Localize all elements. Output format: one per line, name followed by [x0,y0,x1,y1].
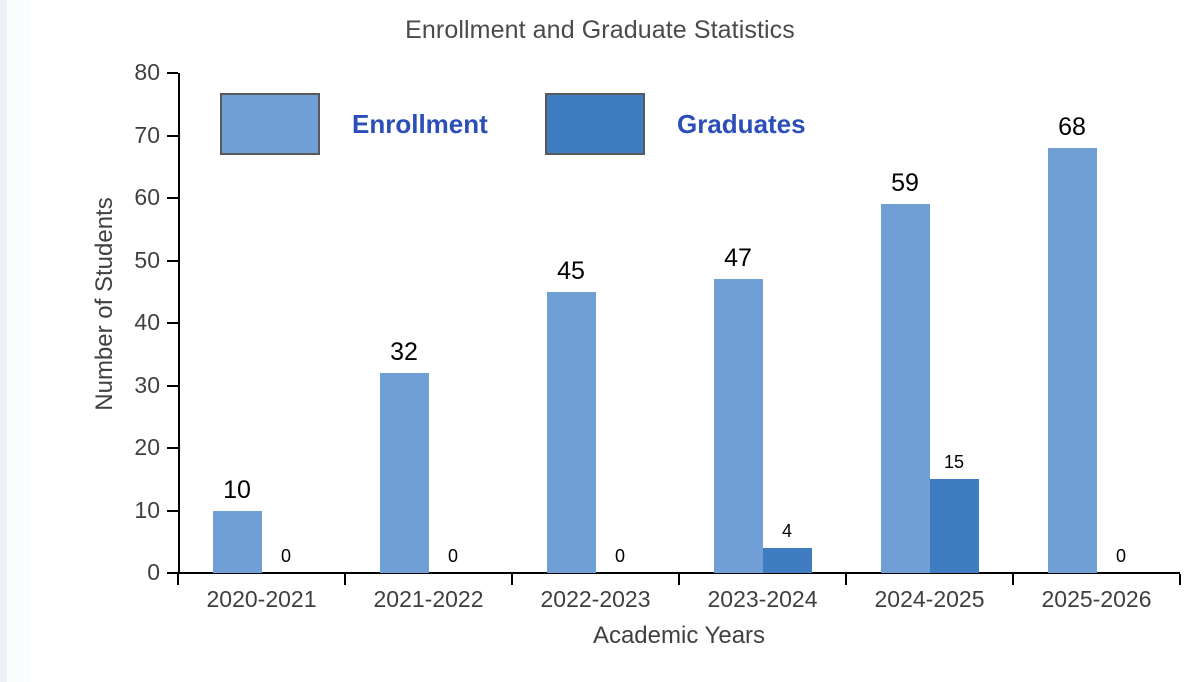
bar-value-label-enrollment-2020-2021: 10 [202,478,272,503]
y-axis-tick-label: 60 [100,186,160,209]
x-axis-tick [1012,574,1014,585]
y-axis-tick-label: 0 [100,561,160,584]
x-axis-tick-label: 2021-2022 [339,586,519,613]
bar-value-label-graduates-2021-2022: 0 [418,547,488,565]
legend-item-enrollment[interactable]: Enrollment [220,92,488,156]
chart-title: Enrollment and Graduate Statistics [0,16,1200,45]
bar-enrollment-2022-2023[interactable] [547,292,596,573]
bar-value-label-enrollment-2023-2024: 47 [703,246,773,271]
bar-enrollment-2021-2022[interactable] [380,373,429,573]
bar-enrollment-2024-2025[interactable] [881,204,930,573]
bar-value-label-graduates-2024-2025: 15 [919,453,989,471]
bar-value-label-enrollment-2021-2022: 32 [369,340,439,365]
legend-item-graduates[interactable]: Graduates [545,92,806,156]
y-axis-tick-label: 80 [100,61,160,84]
y-axis-tick-label: 70 [100,124,160,147]
x-axis-tick [1179,574,1181,585]
x-axis-tick [344,574,346,585]
legend-label-graduates: Graduates [677,109,806,140]
legend-swatch-graduates [545,93,645,155]
x-axis-title: Academic Years [178,622,1180,650]
y-axis-tick-label: 40 [100,311,160,334]
bar-enrollment-2025-2026[interactable] [1048,148,1097,573]
bar-value-label-enrollment-2024-2025: 59 [870,171,940,196]
y-axis-tick [167,135,178,137]
legend-label-enrollment: Enrollment [352,109,488,140]
bar-graduates-2024-2025[interactable] [930,479,979,573]
legend-swatch-enrollment [220,93,320,155]
x-axis-tick [678,574,680,585]
y-axis-tick [167,260,178,262]
y-axis-tick [167,385,178,387]
x-axis-tick-label: 2020-2021 [172,586,352,613]
bar-value-label-graduates-2020-2021: 0 [251,547,321,565]
x-axis-tick-label: 2024-2025 [840,586,1020,613]
bar-value-label-graduates-2025-2026: 0 [1086,547,1156,565]
y-axis-tick-label: 20 [100,436,160,459]
y-axis-tick [167,510,178,512]
bar-value-label-enrollment-2022-2023: 45 [536,259,606,284]
bar-graduates-2023-2024[interactable] [763,548,812,573]
y-axis-tick [167,322,178,324]
bar-chart: Enrollment and Graduate Statistics Numbe… [0,0,1200,682]
y-axis-tick [167,197,178,199]
bar-value-label-enrollment-2025-2026: 68 [1037,115,1107,140]
y-axis-tick-label: 30 [100,374,160,397]
x-axis-tick [177,574,179,585]
x-axis-tick-label: 2025-2026 [1007,586,1187,613]
y-axis-tick-label: 50 [100,249,160,272]
y-axis-tick [167,72,178,74]
bar-value-label-graduates-2023-2024: 4 [752,522,822,540]
x-axis-tick-label: 2023-2024 [673,586,853,613]
x-axis-tick-label: 2022-2023 [506,586,686,613]
x-axis-tick [845,574,847,585]
y-axis-tick-label: 10 [100,499,160,522]
bar-value-label-graduates-2022-2023: 0 [585,547,655,565]
x-axis-tick [511,574,513,585]
y-axis-tick [167,447,178,449]
